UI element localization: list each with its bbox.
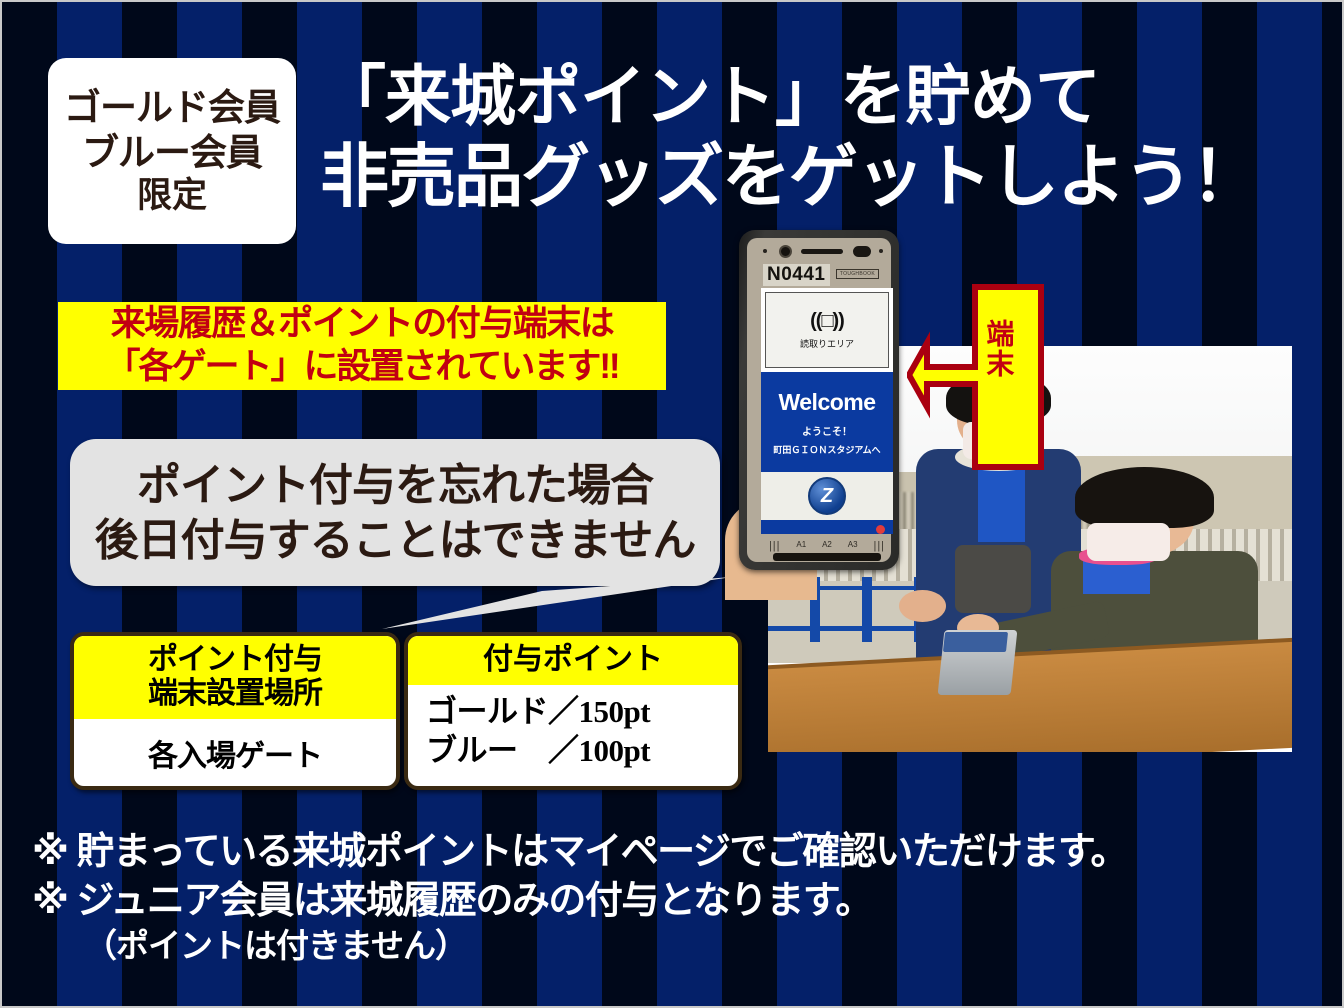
terminal-key-a3[interactable]: A3: [848, 540, 858, 552]
member-eligibility-badge: ゴールド会員 ブルー会員 限定: [48, 58, 296, 244]
footnotes: ※ 貯まっている来城ポイントはマイページでご確認いただけます。 ※ ジュニア会員…: [32, 828, 1332, 967]
secondary-camera-icon: [853, 246, 871, 257]
welcome-venue: 町田ＧＩＯＮスタジアムへ: [773, 443, 880, 456]
terminal-callout-arrow: 端末: [907, 279, 1047, 474]
info-box-terminal-location-header-line-1: ポイント付与: [74, 643, 396, 677]
photo-child-hair: [1075, 467, 1214, 528]
speaker-grill-icon: [801, 249, 843, 254]
sensor-dot-icon: [763, 249, 767, 253]
speech-bubble-line-1: ポイント付与を忘れた場合: [137, 458, 653, 513]
sensor-dot-icon-2: [879, 249, 883, 253]
terminal-device-bezel: N0441 TOUGHBOOK ((□)) 読取りエリア Welcome ようこ…: [747, 238, 891, 562]
info-box-award-points-blue: ブルー ／100pt: [426, 732, 738, 770]
welcome-panel: Welcome ようこそ！ 町田ＧＩＯＮスタジアムへ: [761, 372, 893, 472]
member-badge-line-2: ブルー会員: [82, 130, 262, 175]
record-indicator-icon: [876, 525, 885, 534]
reader-area-box[interactable]: ((□)) 読取りエリア: [765, 292, 889, 368]
handheld-terminal-photo: N0441 TOUGHBOOK ((□)) 読取りエリア Welcome ようこ…: [725, 230, 907, 600]
terminal-location-banner: 来場履歴＆ポイントの付与端末は 「各ゲート」に設置されています‼: [58, 302, 666, 390]
headline-line-1: 「来城ポイント」を貯めて: [320, 59, 1100, 133]
info-box-terminal-location: ポイント付与 端末設置場所 各入場ゲート: [70, 632, 400, 790]
warning-speech-bubble: ポイント付与を忘れた場合 後日付与することはできません: [70, 439, 720, 586]
terminal-device-bottom-controls: ||| A1 A2 A3 |||: [761, 538, 893, 568]
club-logo-panel: Z: [761, 472, 893, 520]
info-box-award-points-header: 付与ポイント: [408, 636, 738, 685]
info-box-award-points: 付与ポイント ゴールド／150pt ブルー ／100pt: [404, 632, 742, 790]
grip-left-icon: |||: [769, 540, 781, 552]
club-logo-icon: Z: [808, 477, 846, 515]
screen-status-bar: [761, 520, 893, 534]
footnote-line-3: （ポイントは付きません）: [32, 925, 1332, 967]
terminal-callout-arrow-label: 端末: [983, 319, 1014, 379]
info-box-terminal-location-header-line-2: 端末設置場所: [74, 677, 396, 711]
terminal-device-brand-label: TOUGHBOOK: [836, 269, 879, 279]
info-box-award-points-header-line-1: 付与ポイント: [408, 643, 738, 677]
terminal-device-id-label: N0441: [763, 264, 830, 286]
nfc-reader-icon: ((□)): [810, 311, 844, 331]
reader-area-label: 読取りエリア: [800, 337, 854, 350]
member-badge-line-3: 限定: [137, 175, 207, 218]
terminal-location-banner-line-2: 「各ゲート」に設置されています‼: [105, 346, 618, 389]
terminal-device-screen[interactable]: ((□)) 読取りエリア Welcome ようこそ！ 町田ＧＩＯＮスタジアムへ …: [761, 288, 893, 534]
info-box-terminal-location-value: 各入場ゲート: [74, 731, 396, 775]
terminal-location-banner-line-1: 来場履歴＆ポイントの付与端末は: [111, 303, 614, 346]
camera-icon: [779, 245, 792, 258]
photo-child-mask: [1087, 523, 1171, 561]
terminal-device-body: N0441 TOUGHBOOK ((□)) 読取りエリア Welcome ようこ…: [739, 230, 899, 570]
info-box-terminal-location-header: ポイント付与 端末設置場所: [74, 636, 396, 719]
speech-bubble-line-2: 後日付与することはできません: [95, 513, 696, 568]
terminal-key-a1[interactable]: A1: [796, 540, 806, 552]
info-box-terminal-location-body: 各入場ゲート: [74, 719, 396, 775]
welcome-subtitle: ようこそ！: [802, 423, 852, 438]
member-badge-line-1: ゴールド会員: [64, 85, 280, 130]
terminal-device-key-row: ||| A1 A2 A3 |||: [761, 540, 893, 552]
terminal-device-top-sensors: [761, 244, 889, 258]
terminal-device-bottom-bar: [773, 553, 881, 561]
terminal-callout-arrow-shape: [907, 279, 1047, 474]
info-box-award-points-body: ゴールド／150pt ブルー ／100pt: [408, 685, 738, 770]
footnote-line-2: ※ ジュニア会員は来城履歴のみの付与となります。: [32, 877, 1332, 926]
terminal-key-a2[interactable]: A2: [822, 540, 832, 552]
welcome-title: Welcome: [778, 389, 875, 416]
grip-right-icon: |||: [873, 540, 885, 552]
photo-reader-terminal-screen: [942, 632, 1007, 652]
info-box-award-points-gold: ゴールド／150pt: [426, 693, 738, 731]
poster-canvas: ゴールド会員 ブルー会員 限定 「来城ポイント」を貯めて 非売品グッズをゲットし…: [0, 0, 1344, 1008]
page-title: 「来城ポイント」を貯めて 非売品グッズをゲットしよう！: [320, 58, 1330, 217]
photo-staff-bag: [955, 545, 1031, 613]
headline-line-2: 非売品グッズをゲットしよう！: [320, 136, 1330, 217]
footnote-line-1: ※ 貯まっている来城ポイントはマイページでご確認いただけます。: [32, 828, 1332, 877]
